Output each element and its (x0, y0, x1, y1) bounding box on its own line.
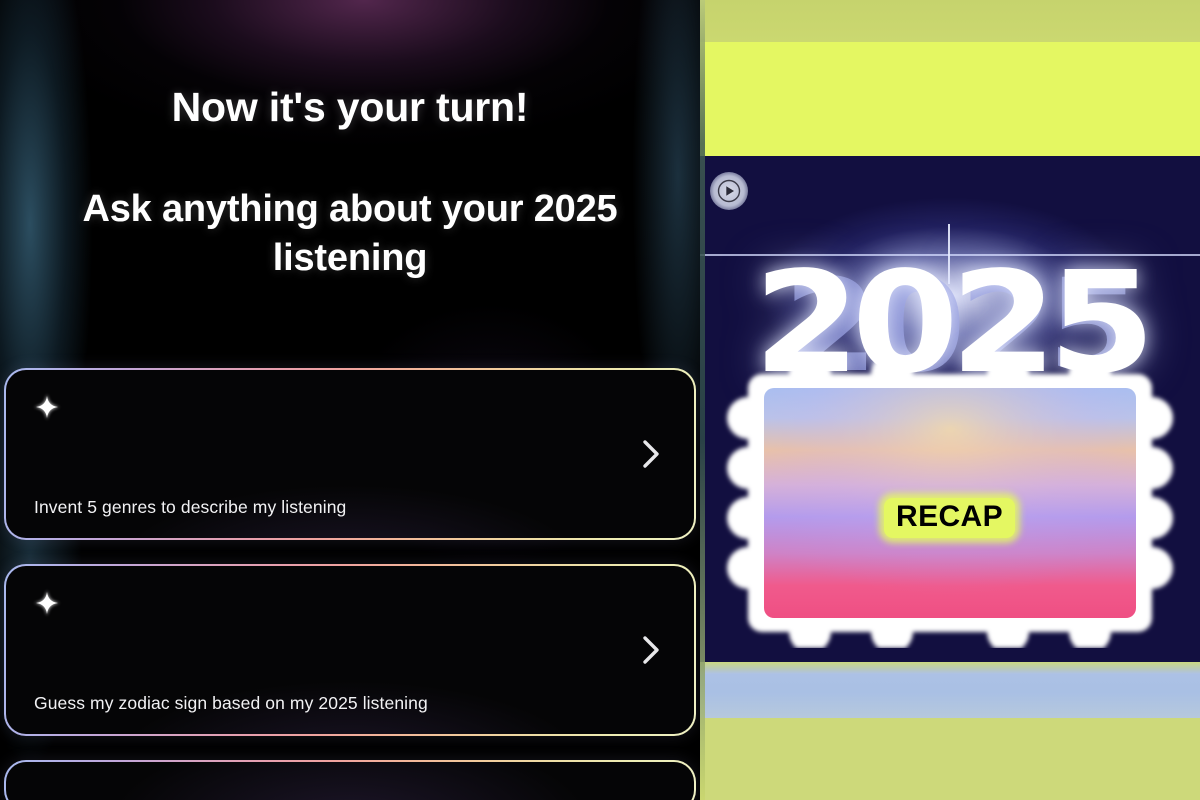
chevron-right-icon[interactable] (638, 633, 664, 667)
headline-primary: Now it's your turn! (0, 86, 700, 129)
status-badge-label: RECAP (896, 500, 1003, 533)
prompt-card-label: Invent 5 genres to describe my listening (34, 497, 624, 518)
background-band-bottom-green (700, 718, 1200, 800)
prompt-card-border: Guess my zodiac sign based on my 2025 li… (4, 564, 696, 736)
prompt-card[interactable] (6, 762, 694, 800)
prompt-card-label: Guess my zodiac sign based on my 2025 li… (34, 693, 624, 714)
headline-secondary: Ask anything about your 2025 listening (0, 185, 700, 282)
page-title: Now it's your turn! Ask anything about y… (0, 86, 700, 282)
panel-left-edge (700, 0, 705, 800)
play-circle-icon[interactable] (710, 172, 748, 210)
ai-prompts-panel: Now it's your turn! Ask anything about y… (0, 0, 700, 800)
prompt-card[interactable]: Invent 5 genres to describe my listening (6, 370, 694, 538)
sparkle-icon (32, 588, 62, 618)
background-band-top-dim (700, 0, 1200, 42)
status-badge: RECAP (884, 498, 1015, 538)
prompt-card-border (4, 760, 696, 800)
screenshot-root: Now it's your turn! Ask anything about y… (0, 0, 1200, 800)
prompt-card[interactable]: Guess my zodiac sign based on my 2025 li… (6, 566, 694, 734)
background-band-top-bright (700, 42, 1200, 156)
prompt-card-list: Invent 5 genres to describe my listening (0, 368, 700, 800)
sparkle-icon (32, 392, 62, 422)
background-band-blue (700, 662, 1200, 718)
recap-card[interactable]: 2025 2025 (700, 156, 1200, 662)
card-inner-glow (6, 762, 694, 800)
recap-preview-panel: 2025 2025 (700, 0, 1200, 800)
prompt-card-border: Invent 5 genres to describe my listening (4, 368, 696, 540)
chevron-right-icon[interactable] (638, 437, 664, 471)
